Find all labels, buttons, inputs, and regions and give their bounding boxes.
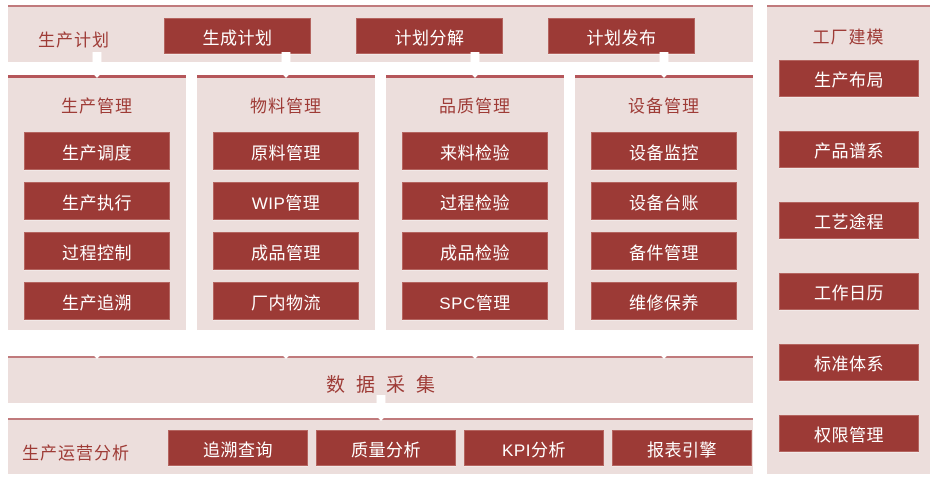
equipment-management-group: 设备管理 设备监控 设备台账 备件管理 维修保养 [575,75,753,330]
production-planning-panel: 生产计划 生成计划 计划分解 计划发布 [8,5,753,62]
material-management-group: 物料管理 原料管理 WIP管理 成品管理 厂内物流 [197,75,375,330]
publish-plan-button[interactable]: 计划发布 [548,18,695,54]
quality-management-group: 品质管理 来料检验 过程检验 成品检验 SPC管理 [386,75,564,330]
production-management-group: 生产管理 生产调度 生产执行 过程控制 生产追溯 [8,75,186,330]
quality-analysis-button[interactable]: 质量分析 [316,430,456,466]
maintenance-button[interactable]: 维修保养 [591,282,737,320]
incoming-inspection-button[interactable]: 来料检验 [402,132,548,170]
product-genealogy-button[interactable]: 产品谱系 [779,131,919,168]
permission-management-button[interactable]: 权限管理 [779,415,919,452]
split-plan-button[interactable]: 计划分解 [356,18,503,54]
factory-modeling-panel: 工厂建模 生产布局 产品谱系 工艺途程 工作日历 标准体系 权限管理 [767,5,930,474]
process-routing-button[interactable]: 工艺途程 [779,202,919,239]
group-title-equipment-management: 设备管理 [575,92,753,117]
generate-plan-button[interactable]: 生成计划 [164,18,311,54]
group-title-material-management: 物料管理 [197,92,375,117]
production-operation-analysis-label: 生产运营分析 [22,439,130,464]
report-engine-button[interactable]: 报表引擎 [612,430,752,466]
group-title-production-management: 生产管理 [8,92,186,117]
process-control-button[interactable]: 过程控制 [24,232,170,270]
equipment-ledger-button[interactable]: 设备台账 [591,182,737,220]
group-title-quality-management: 品质管理 [386,92,564,117]
raw-material-management-button[interactable]: 原料管理 [213,132,359,170]
wip-management-button[interactable]: WIP管理 [213,182,359,220]
factory-modeling-label: 工厂建模 [767,23,930,48]
in-plant-logistics-button[interactable]: 厂内物流 [213,282,359,320]
spare-parts-management-button[interactable]: 备件管理 [591,232,737,270]
kpi-analysis-button[interactable]: KPI分析 [464,430,604,466]
in-process-inspection-button[interactable]: 过程检验 [402,182,548,220]
production-layout-button[interactable]: 生产布局 [779,60,919,97]
finished-goods-management-button[interactable]: 成品管理 [213,232,359,270]
production-planning-label: 生产计划 [38,26,110,51]
data-collection-label: 数据采集 [8,370,753,397]
trace-query-button[interactable]: 追溯查询 [168,430,308,466]
equipment-monitoring-button[interactable]: 设备监控 [591,132,737,170]
final-inspection-button[interactable]: 成品检验 [402,232,548,270]
spc-management-button[interactable]: SPC管理 [402,282,548,320]
production-operation-analysis-panel: 生产运营分析 追溯查询 质量分析 KPI分析 报表引擎 [8,418,753,474]
production-traceability-button[interactable]: 生产追溯 [24,282,170,320]
mes-architecture-diagram: 生产计划 生成计划 计划分解 计划发布 生产管理 生产调度 生产执行 过程控制 … [0,0,937,479]
production-scheduling-button[interactable]: 生产调度 [24,132,170,170]
production-execution-button[interactable]: 生产执行 [24,182,170,220]
standard-system-button[interactable]: 标准体系 [779,344,919,381]
work-calendar-button[interactable]: 工作日历 [779,273,919,310]
